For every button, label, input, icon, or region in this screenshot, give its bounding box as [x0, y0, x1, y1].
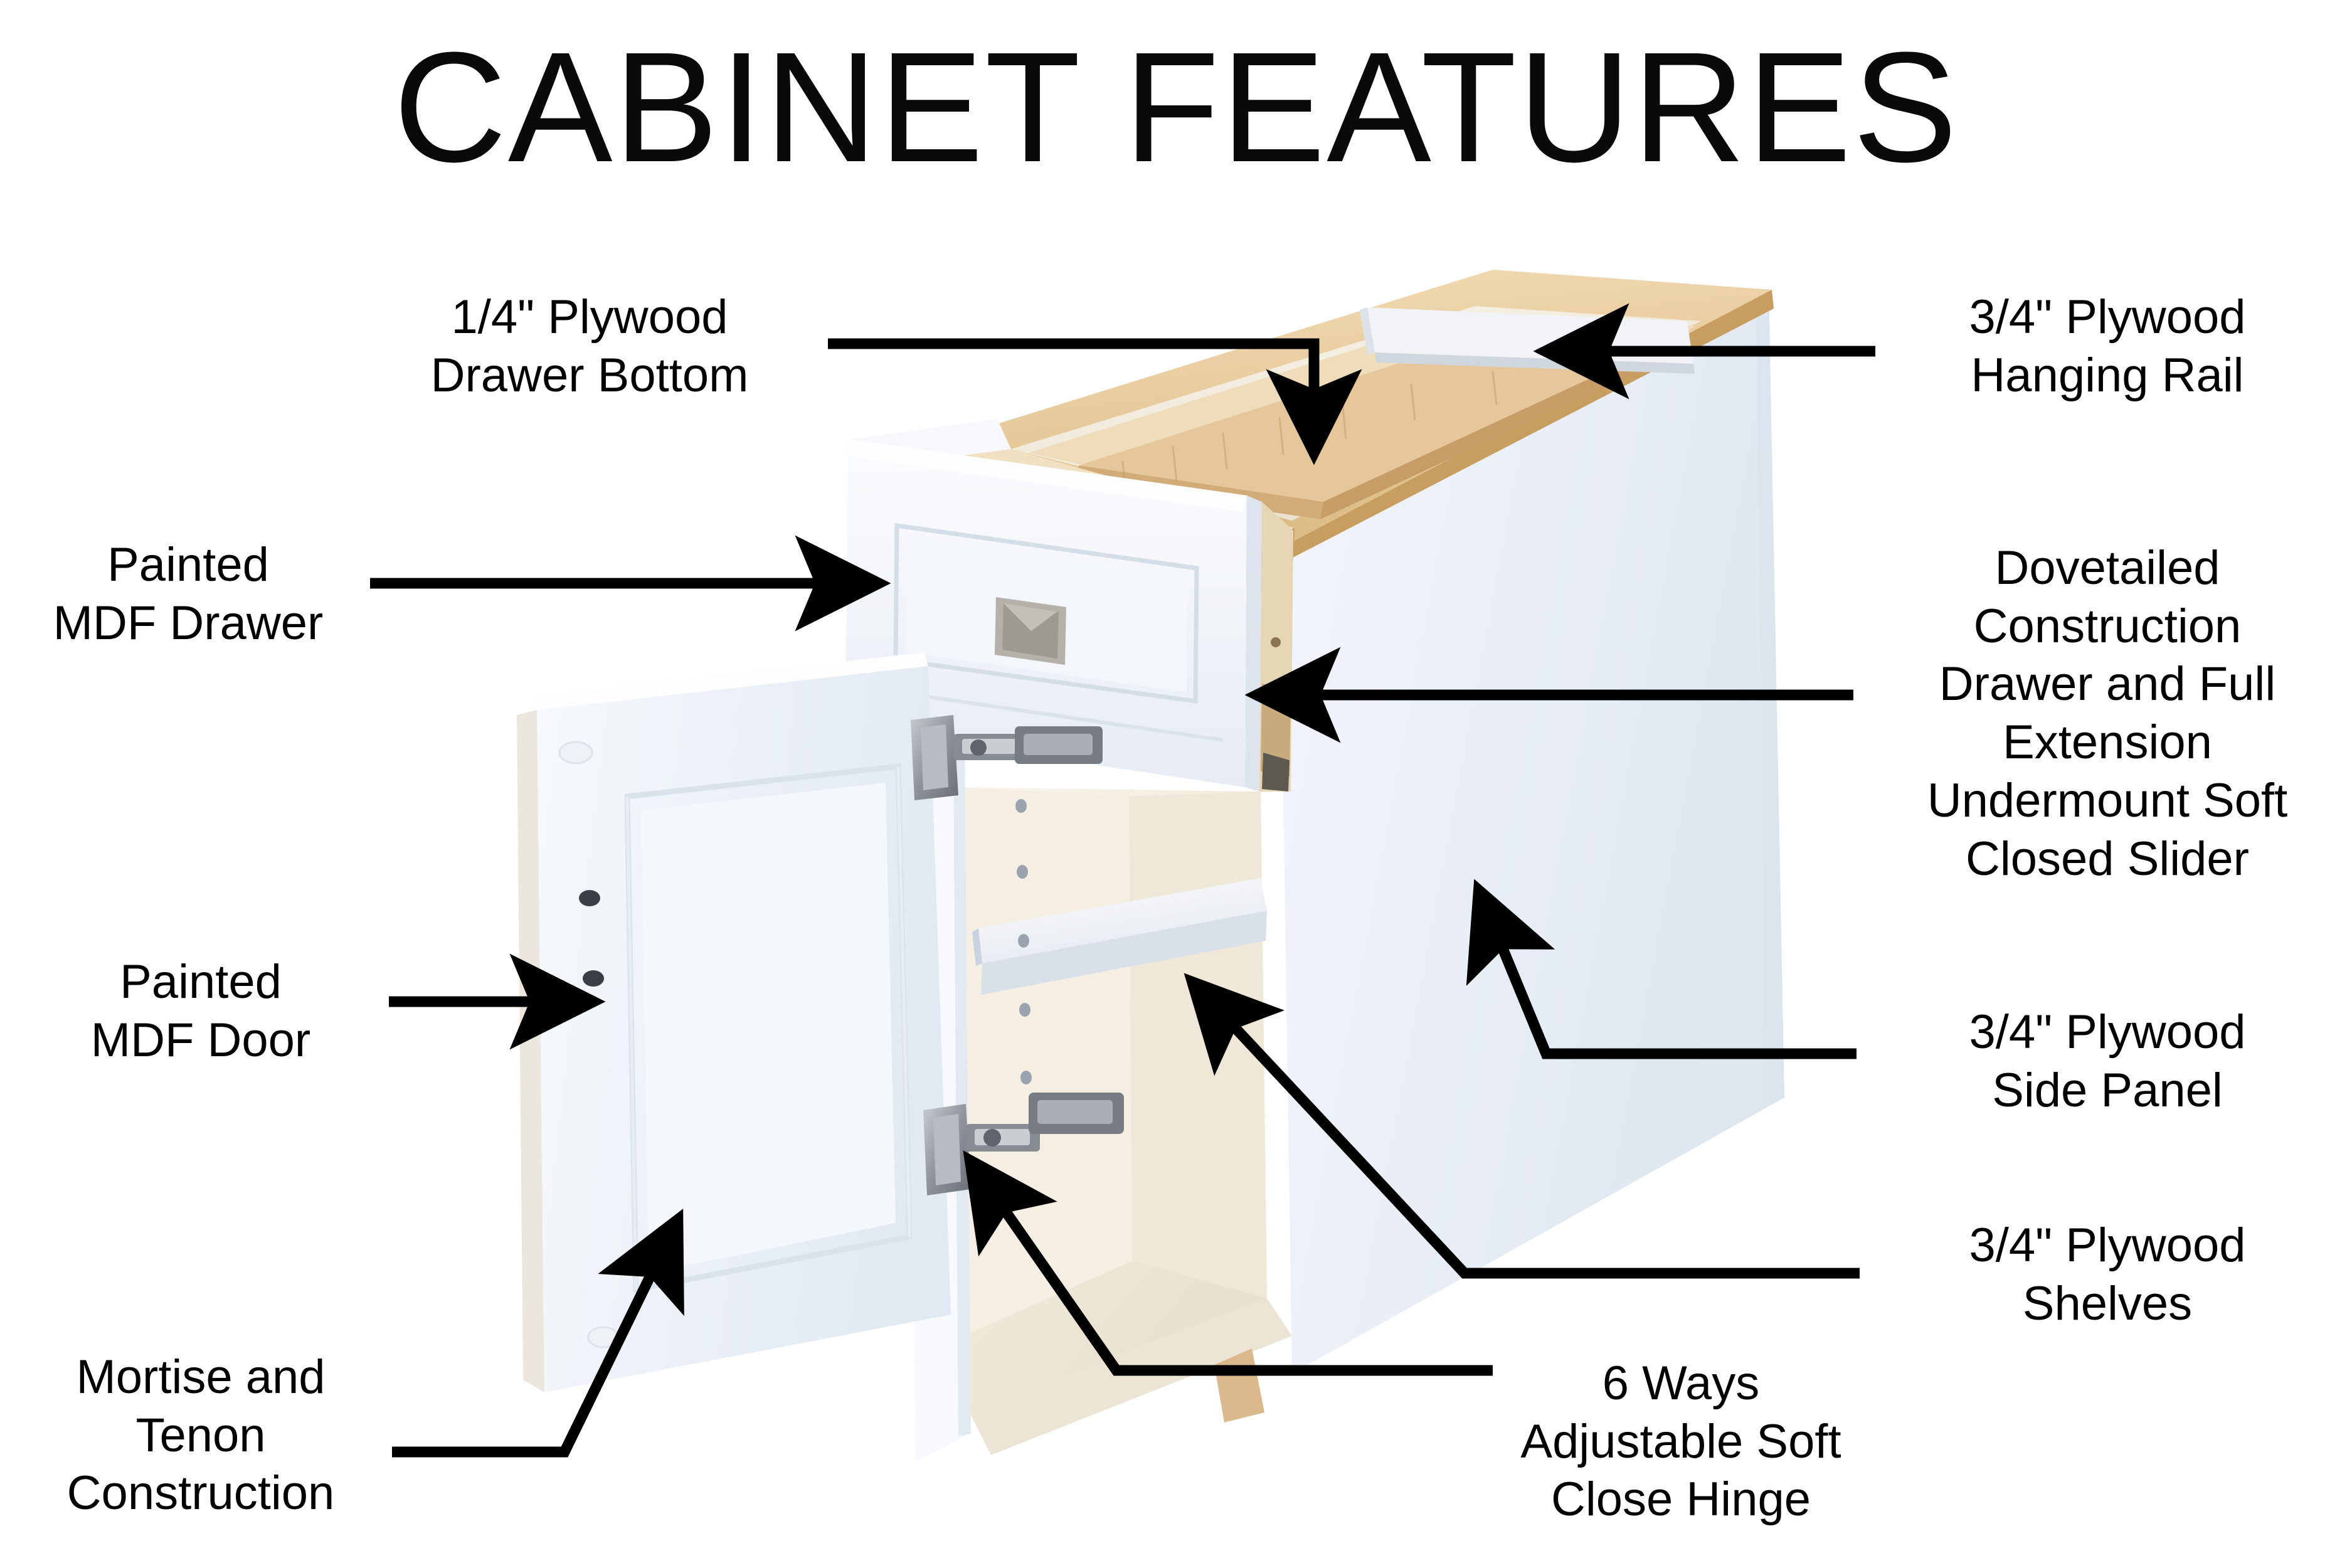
label-dovetailed-line4: Extension: [1875, 714, 2339, 772]
drawer-handle[interactable]: [995, 597, 1066, 665]
label-dovetailed-line3: Drawer and Full: [1875, 655, 2339, 714]
label-hanging-rail-line1: 3/4" Plywood: [1875, 289, 2339, 347]
label-drawer-bottom-line2: Drawer Bottom: [351, 347, 828, 405]
label-mortise-tenon-line2: Tenon: [19, 1407, 383, 1465]
label-dovetailed-line6: Closed Slider: [1875, 830, 2339, 889]
label-shelves: 3/4" Plywood Shelves: [1875, 1217, 2339, 1333]
label-dovetailed-line1: Dovetailed: [1875, 539, 2339, 598]
label-painted-mdf-drawer-line2: MDF Drawer: [13, 595, 364, 653]
label-hinge-line2: Adjustable Soft: [1493, 1413, 1869, 1471]
label-side-panel: 3/4" Plywood Side Panel: [1875, 1004, 2339, 1120]
label-painted-mdf-door-line1: Painted: [25, 953, 376, 1012]
label-painted-mdf-drawer-line1: Painted: [13, 536, 364, 595]
label-dovetailed-line2: Construction: [1875, 598, 2339, 656]
undermount-slider: [1259, 502, 1293, 792]
label-hinge-line1: 6 Ways: [1493, 1355, 1869, 1413]
label-dovetailed-construction: Dovetailed Construction Drawer and Full …: [1875, 539, 2339, 888]
label-shelves-line2: Shelves: [1875, 1275, 2339, 1333]
label-hanging-rail: 3/4" Plywood Hanging Rail: [1875, 289, 2339, 405]
cabinet-door[interactable]: [517, 652, 951, 1392]
label-drawer-bottom: 1/4" Plywood Drawer Bottom: [351, 289, 828, 405]
label-mortise-tenon: Mortise and Tenon Construction: [19, 1348, 383, 1523]
label-painted-mdf-door-line2: MDF Door: [25, 1012, 376, 1070]
label-painted-mdf-door: Painted MDF Door: [25, 953, 376, 1069]
label-drawer-bottom-line1: 1/4" Plywood: [351, 289, 828, 347]
infographic-canvas: CABINET FEATURES: [0, 0, 2352, 1568]
label-side-panel-line2: Side Panel: [1875, 1062, 2339, 1120]
label-side-panel-line1: 3/4" Plywood: [1875, 1004, 2339, 1062]
label-shelves-line1: 3/4" Plywood: [1875, 1217, 2339, 1275]
label-mortise-tenon-line3: Construction: [19, 1465, 383, 1523]
label-mortise-tenon-line1: Mortise and: [19, 1348, 383, 1407]
label-painted-mdf-drawer: Painted MDF Drawer: [13, 536, 364, 652]
label-dovetailed-line5: Undermount Soft: [1875, 772, 2339, 830]
label-hanging-rail-line2: Hanging Rail: [1875, 347, 2339, 405]
label-soft-close-hinge: 6 Ways Adjustable Soft Close Hinge: [1493, 1355, 1869, 1529]
label-hinge-line3: Close Hinge: [1493, 1471, 1869, 1529]
